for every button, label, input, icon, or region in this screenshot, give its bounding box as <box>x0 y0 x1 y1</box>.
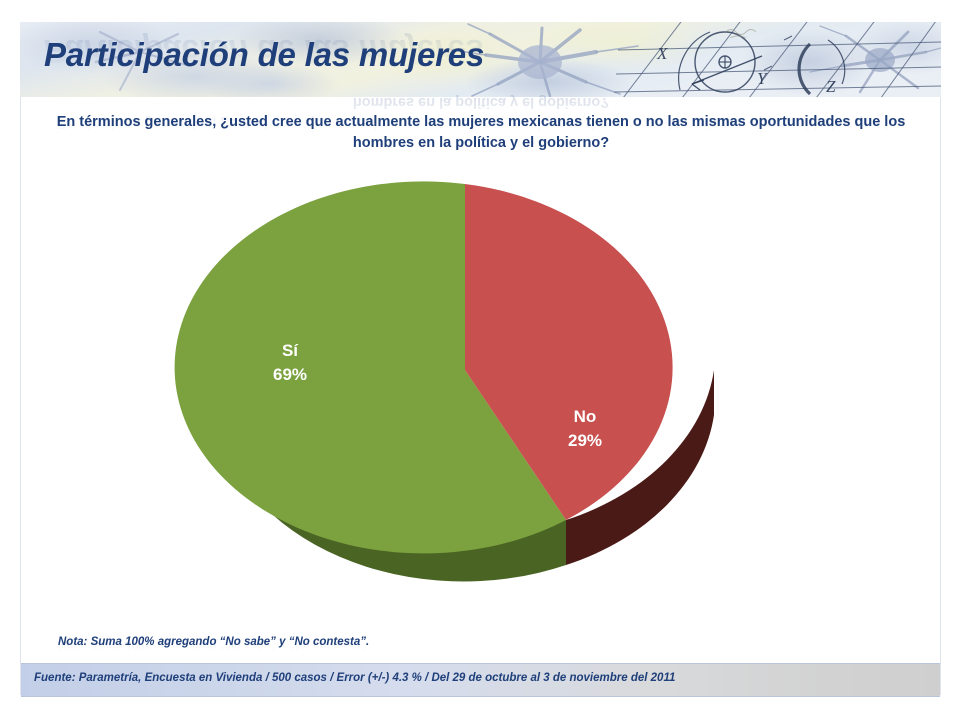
slide: X Y Z Participación de las mujeres Parti… <box>0 0 961 721</box>
page-title: Participación de las mujeres <box>44 36 484 74</box>
question-text: En términos generales, ¿usted cree que a… <box>48 112 914 154</box>
slide-frame-left-line <box>20 22 21 695</box>
source-bar: Fuente: Parametría, Encuesta en Vivienda… <box>21 663 940 697</box>
chart-note: Nota: Suma 100% agregando “No sabe” y “N… <box>58 636 369 648</box>
source-text: Fuente: Parametría, Encuesta en Vivienda… <box>34 672 675 684</box>
pie-label-no-value: 29% <box>568 431 602 450</box>
pie-chart-svg: Sí 69% No 29% <box>170 180 770 630</box>
pie-label-si-name: Sí <box>282 341 299 360</box>
svg-text:Y: Y <box>757 69 768 88</box>
svg-text:Z: Z <box>826 77 836 96</box>
pie-label-no-name: No <box>574 407 597 426</box>
slide-frame-right-line <box>940 22 941 695</box>
svg-text:X: X <box>656 44 668 63</box>
pie-label-si-value: 69% <box>273 365 307 384</box>
pie-chart: Sí 69% No 29% <box>170 180 770 630</box>
